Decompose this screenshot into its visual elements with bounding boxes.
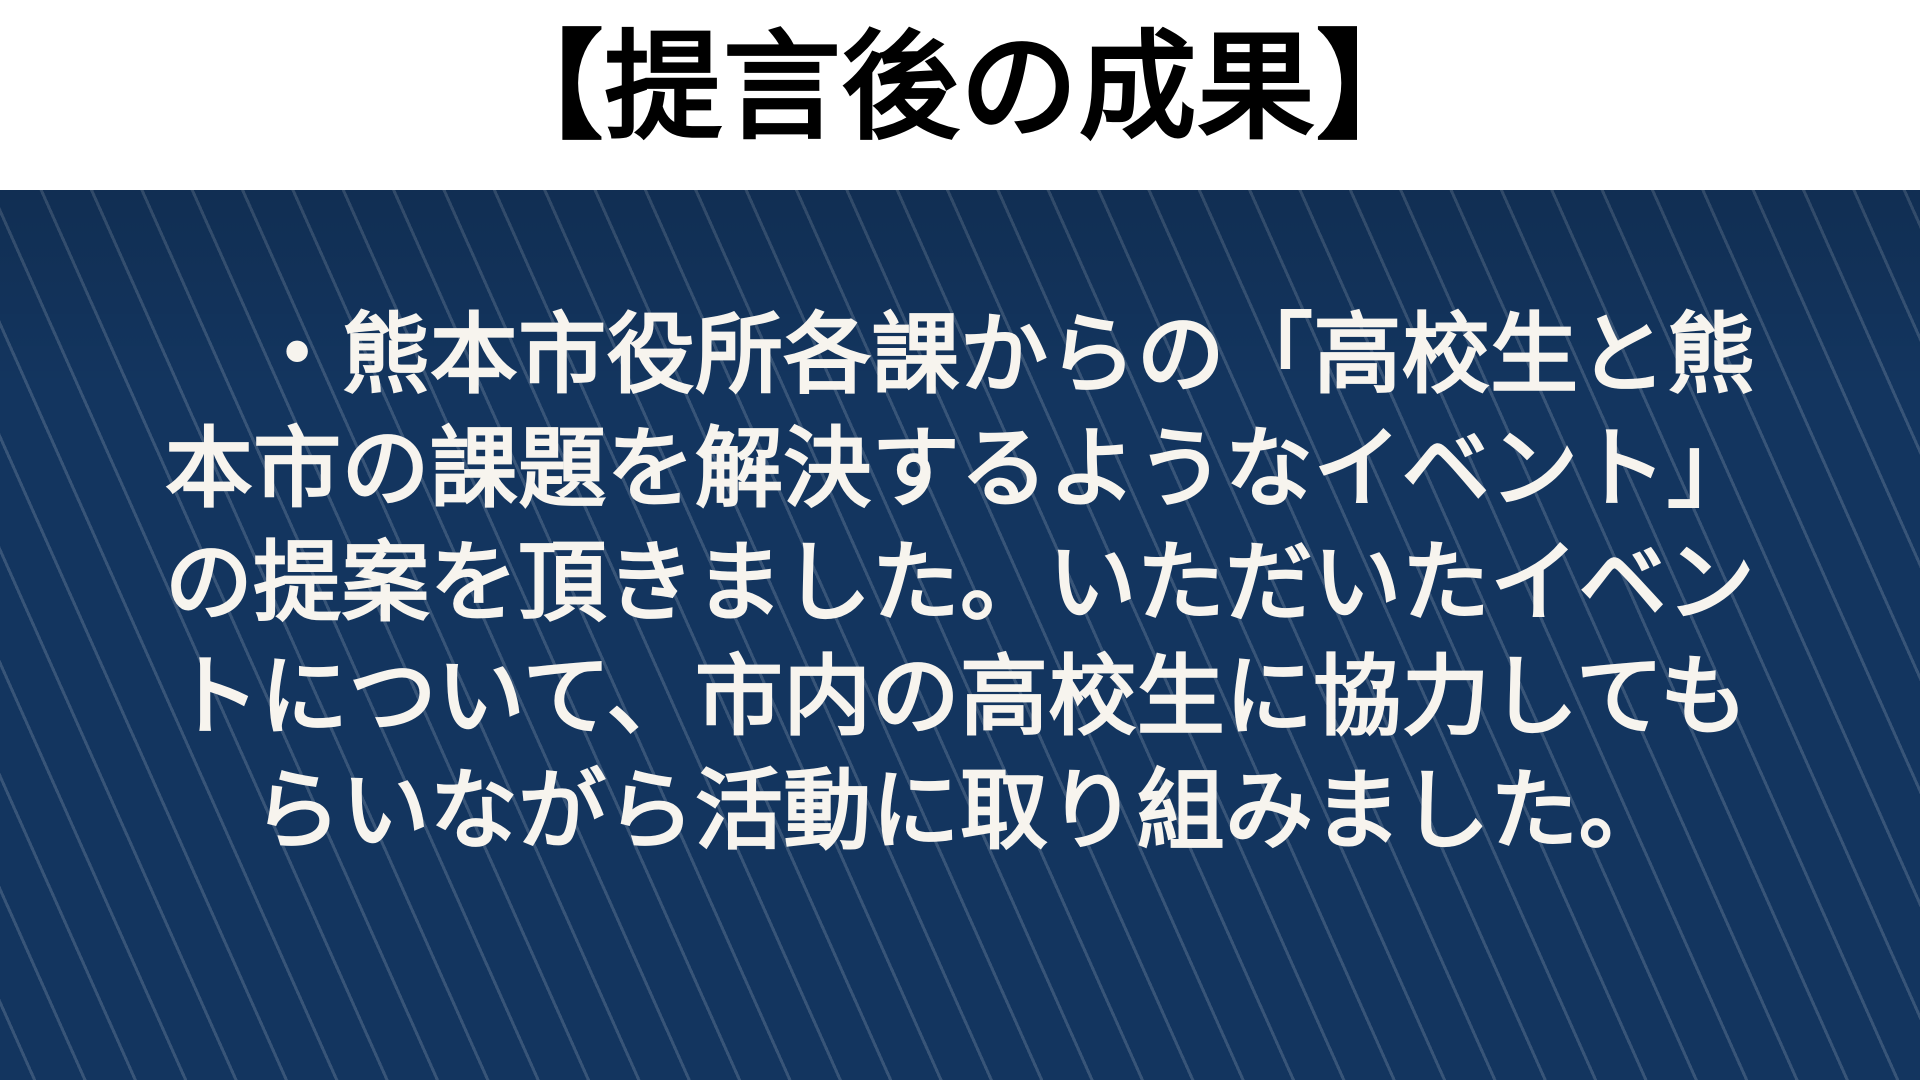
body-line-4: トについて、市内の高校生に協力しても bbox=[112, 640, 1808, 754]
slide-root: 【提言後の成果】 ・熊本市役所各課からの「高校生と熊 本市の課題を解決するような… bbox=[0, 0, 1920, 1080]
page-title: 【提言後の成果】 bbox=[486, 28, 1435, 146]
slide-header: 【提言後の成果】 bbox=[0, 0, 1920, 190]
body-line-2: 本市の課題を解決するようなイベント」 bbox=[112, 412, 1808, 526]
body-line-3: の提案を頂きました。いただいたイベン bbox=[112, 526, 1808, 640]
body-text-block: ・熊本市役所各課からの「高校生と熊 本市の課題を解決するようなイベント」 の提案… bbox=[0, 190, 1920, 1080]
body-line-5: らいながら活動に取り組みました。 bbox=[112, 754, 1808, 868]
slide-body-panel: ・熊本市役所各課からの「高校生と熊 本市の課題を解決するようなイベント」 の提案… bbox=[0, 190, 1920, 1080]
body-line-1: ・熊本市役所各課からの「高校生と熊 bbox=[112, 298, 1808, 412]
